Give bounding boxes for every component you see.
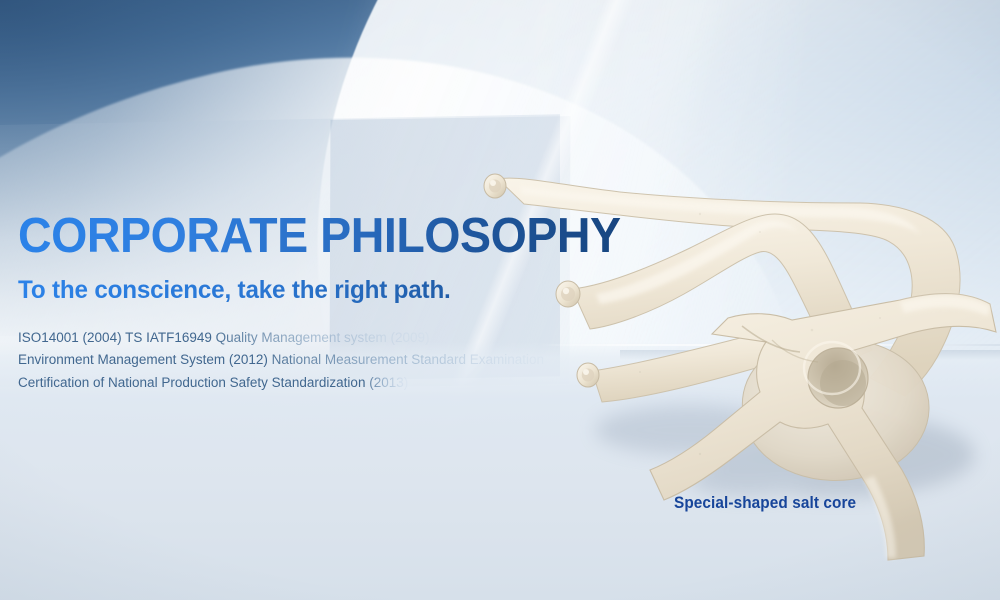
certification-line: Certification of National Production Saf… [18,372,658,395]
certification-line: ISO14001 (2004) TS IATF16949 Quality Man… [18,327,658,350]
certification-line-lead: Environment Management System (2012) [18,352,268,367]
certification-line-fade: Quality Management system (2009) [216,330,430,345]
certification-line: Environment Management System (2012) Nat… [18,349,658,372]
page-title: CORPORATE PHILOSOPHY [18,212,626,262]
certification-list: ISO14001 (2004) TS IATF16949 Quality Man… [18,327,658,395]
certification-line-fade: National Measurement Standard Examinatio… [268,352,544,367]
certification-line-fade: (2013) [365,375,408,390]
corporate-philosophy-banner: CORPORATE PHILOSOPHY To the conscience, … [0,0,1000,600]
certification-line-lead: ISO14001 (2004) TS IATF16949 [18,330,216,345]
page-subtitle: To the conscience, take the right path. [18,276,639,305]
headline-text-block: CORPORATE PHILOSOPHY To the conscience, … [18,212,658,394]
certification-line-lead: Certification of National Production Saf… [18,375,365,390]
product-caption: Special-shaped salt core [674,494,856,513]
